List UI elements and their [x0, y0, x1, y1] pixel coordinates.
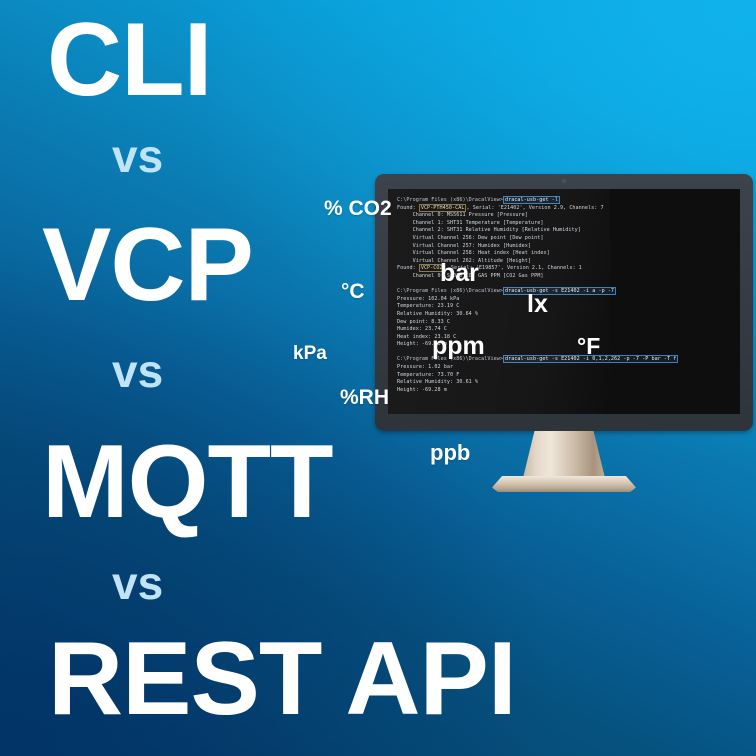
terminal-output-line: Found: VCP-PTH450-CAL, Serial: 'E21402',…: [397, 205, 740, 213]
terminal-output-line: Pressure: 102.04 kPa: [397, 296, 740, 304]
poster-canvas: CLI vs VCP vs MQTT vs REST API C:\Progra…: [0, 0, 756, 756]
terminal-output-line: Temperature: 23.19 C: [397, 303, 740, 311]
terminal-output-line: Relative Humidity: 30.64 %: [397, 311, 740, 319]
terminal-output: C:\Program Files (x86)\DracalView>dracal…: [388, 189, 740, 394]
terminal-command-line: C:\Program Files (x86)\DracalView>dracal…: [397, 288, 740, 296]
stand-neck: [523, 431, 605, 478]
terminal-device-name: VCP-CO2: [419, 264, 445, 272]
terminal-output-line: Channel 0: MS5611 Pressure [Pressure]: [397, 212, 740, 220]
webcam-icon: [562, 179, 566, 183]
terminal-output-line: Channel 1: SHT31 Temperature [Temperatur…: [397, 220, 740, 228]
terminal-prompt: C:\Program Files (x86)\DracalView>: [397, 197, 503, 203]
terminal-command-line: C:\Program Files (x86)\DracalView>dracal…: [397, 356, 740, 364]
terminal-command: dracal-usb-get -s E21402 -i 0,1,2,262 -p…: [503, 355, 678, 363]
terminal-output-line: Channel 0: SCD30 CO2 GAS PPM [CO2 Gas PP…: [397, 273, 740, 281]
terminal-output-line: Humidex: 23.74 C: [397, 326, 740, 334]
terminal-device-name: VCP-PTH450-CAL: [419, 204, 467, 212]
terminal-prompt: C:\Program Files (x86)\DracalView>: [397, 356, 503, 362]
terminal-command: dracal-usb-get -s E21402 -i a -p -7: [503, 287, 616, 295]
terminal-command: dracal-usb-get -l: [503, 196, 560, 204]
terminal-output-line: Relative Humidity: 30.61 %: [397, 379, 740, 387]
monitor-stand: [375, 431, 753, 492]
stand-base: [492, 476, 636, 492]
terminal-output-line: Virtual Channel 258: Heat index [Heat in…: [397, 250, 740, 258]
terminal-output-line: Height: -69.28 m: [397, 341, 740, 349]
monitor-bezel: C:\Program Files (x86)\DracalView>dracal…: [375, 174, 753, 431]
terminal-output-line: Virtual Channel 257: Humidex [Humidex]: [397, 243, 740, 251]
monitor-screen: C:\Program Files (x86)\DracalView>dracal…: [388, 189, 740, 414]
terminal-output-line: Pressure: 1.02 bar: [397, 364, 740, 372]
terminal-output-line: Temperature: 73.70 F: [397, 372, 740, 380]
terminal-output-line: Found: VCP-CO2, Serial: 'E19857', Versio…: [397, 265, 740, 273]
terminal-output-line: Channel 2: SHT31 Relative Humidity [Rela…: [397, 227, 740, 235]
monitor: C:\Program Files (x86)\DracalView>dracal…: [375, 174, 753, 492]
terminal-output-line: Height: -69.28 m: [397, 387, 740, 395]
terminal-output-line: Virtual Channel 256: Dew point [Dew poin…: [397, 235, 740, 243]
terminal-output-line: Dew point: 8.33 C: [397, 319, 740, 327]
terminal-output-line: Heat index: 23.18 C: [397, 334, 740, 342]
terminal-prompt: C:\Program Files (x86)\DracalView>: [397, 288, 503, 294]
